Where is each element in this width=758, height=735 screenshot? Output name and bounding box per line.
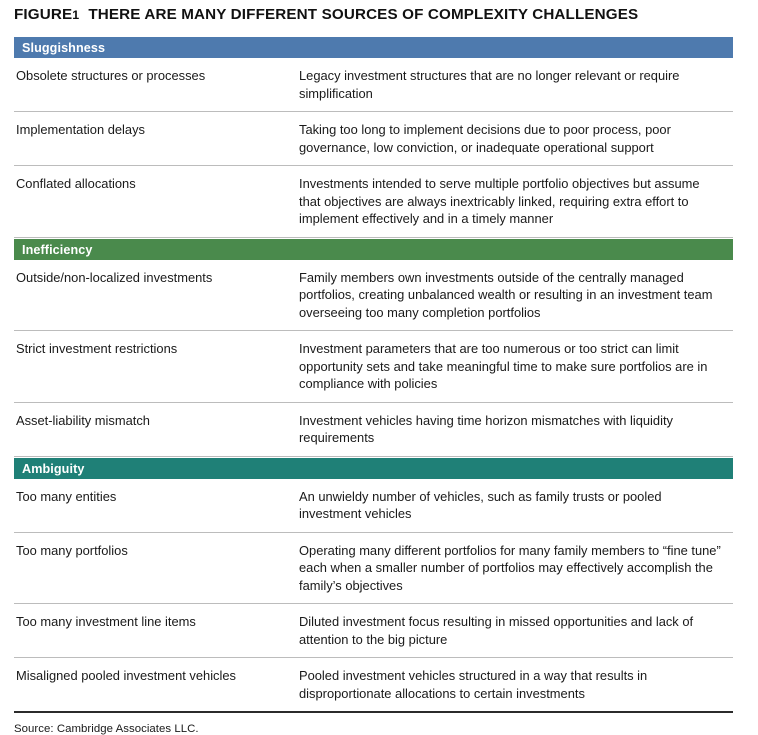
- challenge-description: Diluted investment focus resulting in mi…: [299, 613, 733, 648]
- challenge-term: Implementation delays: [14, 121, 299, 156]
- challenge-term: Obsolete structures or processes: [14, 67, 299, 102]
- challenge-term: Strict investment restrictions: [14, 340, 299, 393]
- challenge-term: Too many entities: [14, 488, 299, 523]
- challenge-term: Conflated allocations: [14, 175, 299, 228]
- table-row: Misaligned pooled investment vehiclesPoo…: [14, 658, 733, 711]
- figure-number: 1: [72, 8, 79, 22]
- section-header-inefficiency: Inefficiency: [14, 238, 733, 260]
- table-row: Asset-liability mismatchInvestment vehic…: [14, 403, 733, 457]
- complexity-challenges-table: SluggishnessObsolete structures or proce…: [14, 36, 733, 711]
- table-row: Too many entitiesAn unwieldy number of v…: [14, 479, 733, 533]
- challenge-term: Outside/non-localized investments: [14, 269, 299, 322]
- challenge-description: Investments intended to serve multiple p…: [299, 175, 733, 228]
- challenge-term: Misaligned pooled investment vehicles: [14, 667, 299, 702]
- challenge-description: Operating many different portfolios for …: [299, 542, 733, 595]
- page-title: FIGURE1THERE ARE MANY DIFFERENT SOURCES …: [14, 6, 744, 23]
- table-row: Too many investment line itemsDiluted in…: [14, 604, 733, 658]
- challenge-description: An unwieldy number of vehicles, such as …: [299, 488, 733, 523]
- challenge-description: Taking too long to implement decisions d…: [299, 121, 733, 156]
- figure-label: FIGURE: [14, 6, 72, 23]
- table-row: Conflated allocationsInvestments intende…: [14, 166, 733, 238]
- challenge-term: Too many investment line items: [14, 613, 299, 648]
- table-row: Implementation delaysTaking too long to …: [14, 112, 733, 166]
- challenge-description: Investment parameters that are too numer…: [299, 340, 733, 393]
- table-row: Too many portfoliosOperating many differ…: [14, 533, 733, 605]
- table-bottom-rule: [14, 711, 733, 713]
- challenge-description: Pooled investment vehicles structured in…: [299, 667, 733, 702]
- challenge-description: Family members own investments outside o…: [299, 269, 733, 322]
- figure-page: FIGURE1THERE ARE MANY DIFFERENT SOURCES …: [0, 0, 758, 657]
- table-row: Strict investment restrictionsInvestment…: [14, 331, 733, 403]
- table-row: Outside/non-localized investmentsFamily …: [14, 260, 733, 332]
- challenge-description: Investment vehicles having time horizon …: [299, 412, 733, 447]
- figure-heading: THERE ARE MANY DIFFERENT SOURCES OF COMP…: [88, 6, 638, 23]
- table-row: Obsolete structures or processesLegacy i…: [14, 58, 733, 112]
- challenge-term: Too many portfolios: [14, 542, 299, 595]
- challenge-term: Asset-liability mismatch: [14, 412, 299, 447]
- section-header-sluggishness: Sluggishness: [14, 36, 733, 58]
- section-header-ambiguity: Ambiguity: [14, 457, 733, 479]
- challenge-description: Legacy investment structures that are no…: [299, 67, 733, 102]
- source-note: Source: Cambridge Associates LLC.: [14, 723, 199, 735]
